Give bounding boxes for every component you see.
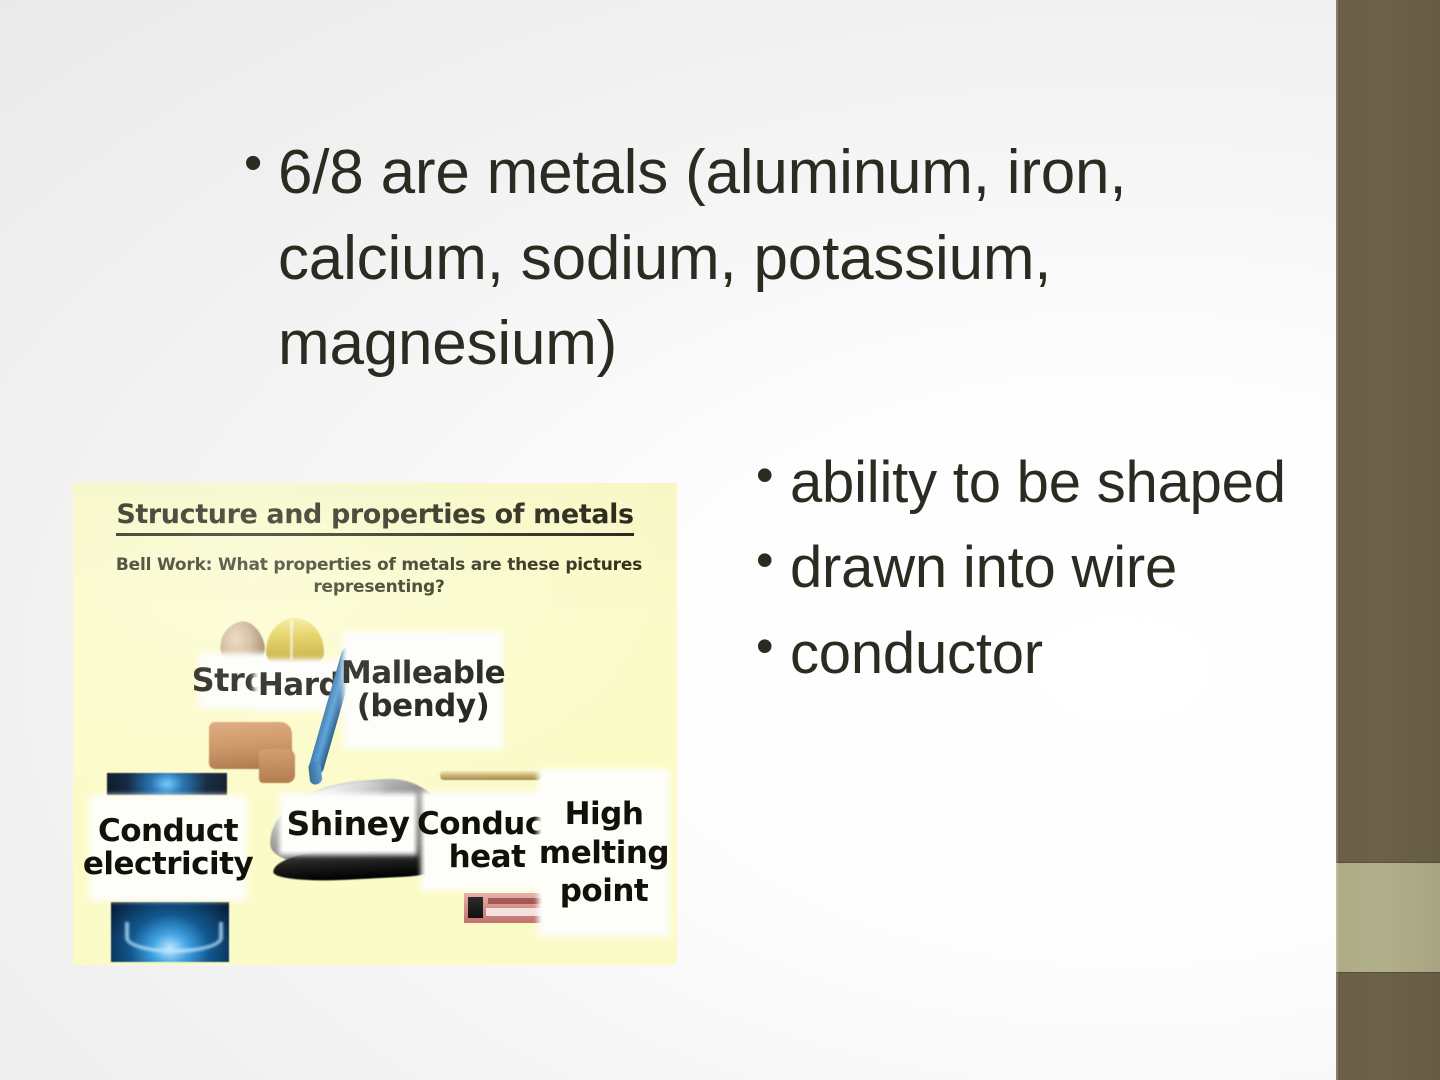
title-bullet-list: 6/8 are metals (aluminum, iron, calcium,…	[236, 130, 1272, 387]
label-high-melting-point: High melting point	[542, 773, 666, 933]
label-malleable: Malleable (bendy)	[347, 635, 499, 745]
label-conduct-heat-line1: Conduct	[417, 808, 557, 841]
property-bullet-conductor: conductor	[748, 611, 1308, 696]
presentation-slide: 6/8 are metals (aluminum, iron, calcium,…	[0, 0, 1440, 1080]
property-bullet-ability-to-be-shaped: ability to be shaped	[748, 440, 1308, 525]
label-shiney: Shiney	[283, 797, 413, 851]
label-conduct-heat: Conduct heat	[425, 795, 549, 887]
slide-title-text: 6/8 are metals (aluminum, iron, calcium,…	[236, 130, 1272, 387]
label-conduct-heat-line2: heat	[449, 841, 526, 874]
electric-arc-bottom-icon	[111, 902, 229, 962]
label-high-melting-point-line1: High	[565, 795, 644, 833]
worksheet-bottom-row: Conduct electricity Shiney Conduct heat …	[87, 751, 677, 956]
help-banner-text-strip	[486, 908, 542, 916]
metal-properties-bullets: ability to be shaped drawn into wire con…	[748, 440, 1308, 696]
property-bullet-drawn-into-wire: drawn into wire	[748, 525, 1308, 610]
label-conduct-electricity-line2: electricity	[83, 848, 253, 881]
electric-arc-top-icon	[107, 773, 227, 795]
worksheet-subtitle: Bell Work: What properties of metals are…	[107, 555, 651, 599]
label-conduct-electricity-line1: Conduct	[98, 815, 238, 848]
label-high-melting-point-line3: point	[560, 872, 649, 910]
worksheet-image: Structure and properties of metals Bell …	[73, 483, 677, 965]
help-banner-icon	[464, 893, 546, 923]
gold-bar-icon	[440, 771, 542, 780]
title-bullet-item: 6/8 are metals (aluminum, iron, calcium,…	[236, 130, 1272, 387]
help-banner-stripe	[488, 898, 543, 904]
worksheet-title-text: Structure and properties of metals	[116, 499, 633, 536]
property-bullet-list: ability to be shaped drawn into wire con…	[748, 440, 1308, 696]
label-malleable-line2: (bendy)	[357, 690, 490, 723]
help-banner-glyph	[468, 897, 483, 918]
gold-dome-icon	[266, 618, 324, 662]
worksheet-title: Structure and properties of metals	[73, 499, 677, 530]
right-edge-seam	[1336, 0, 1338, 1080]
label-high-melting-point-line2: melting	[539, 834, 669, 872]
label-conduct-electricity: Conduct electricity	[93, 799, 243, 897]
label-malleable-line1: Malleable	[341, 657, 505, 690]
right-edge-light-band	[1336, 863, 1440, 972]
